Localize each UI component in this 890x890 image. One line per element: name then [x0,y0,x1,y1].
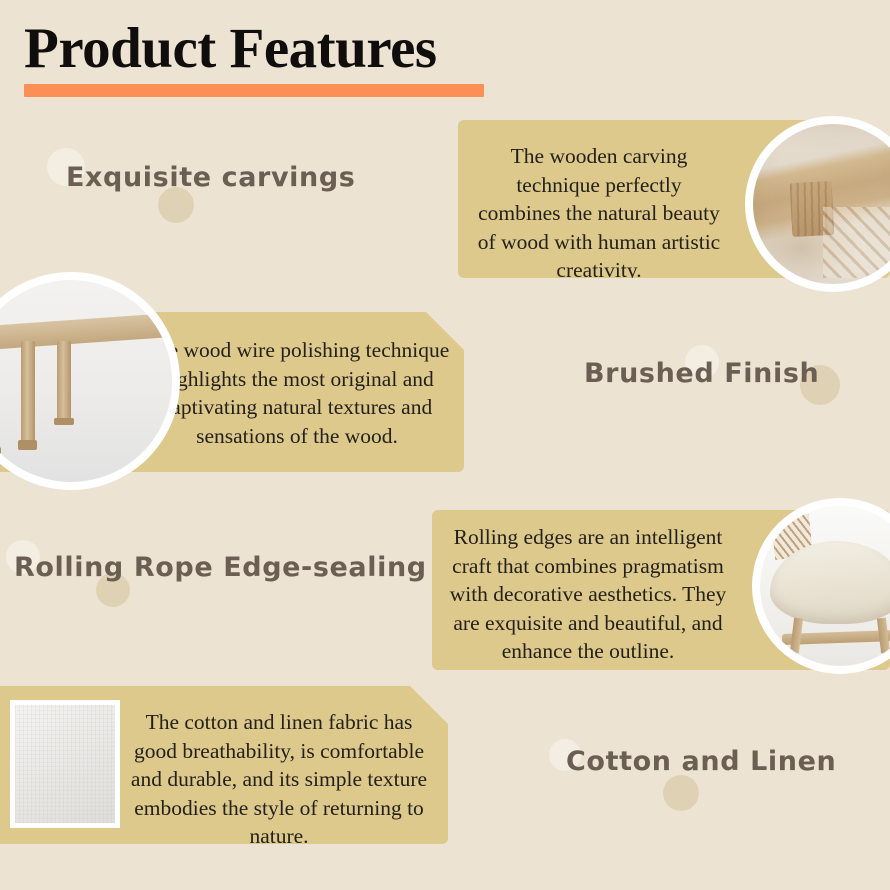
table-legs-photo [0,272,180,490]
feature-heading-exquisite-carvings: Exquisite carvings [66,162,355,193]
upholstered-seat-photo [752,498,890,674]
decorative-circle [663,775,699,811]
page-title-block: Product Features [24,18,544,97]
linen-fabric-swatch-photo [10,700,120,828]
carved-chair-corner-photo [745,116,890,292]
feature-heading-rolling-rope-edge-sealing: Rolling Rope Edge-sealing [14,552,427,583]
title-underline-accent [24,84,484,97]
product-features-infographic: Product Features Exquisite carvings The … [0,0,890,890]
feature-heading-cotton-and-linen: Cotton and Linen [566,746,836,777]
feature-heading-brushed-finish: Brushed Finish [584,358,819,389]
page-title: Product Features [24,18,544,80]
